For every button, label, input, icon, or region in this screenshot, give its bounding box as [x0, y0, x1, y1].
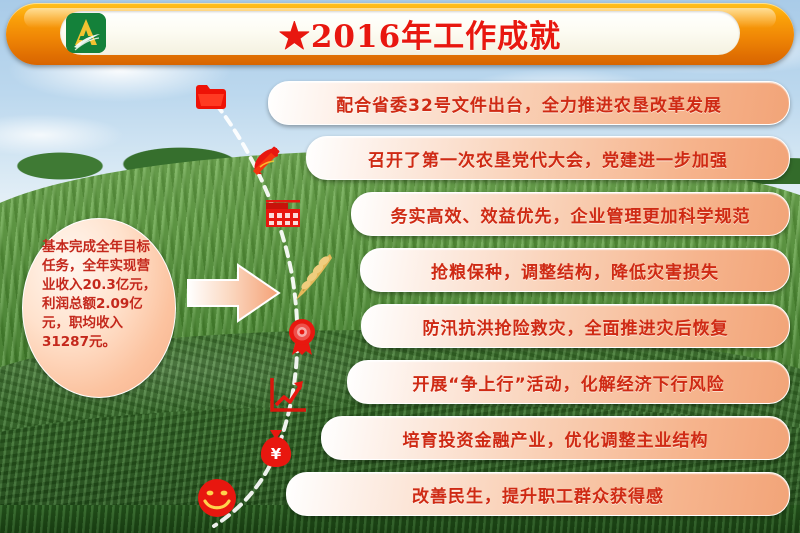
achievement-label: 配合省委32号文件出台，全力推进农垦改革发展	[336, 91, 722, 116]
rising-chart-icon	[268, 375, 308, 420]
achievement-pill-4[interactable]: 抢粮保种，调整结构，降低灾害损失	[360, 248, 790, 292]
page-title: ★2016年工作成就	[120, 11, 720, 55]
hammer-sickle-party-emblem-icon	[247, 143, 283, 184]
factory-building-icon	[265, 200, 301, 233]
achievement-label: 培育投资金融产业，优化调整主业结构	[403, 426, 709, 451]
svg-text:¥: ¥	[271, 445, 282, 463]
achievement-pill-5[interactable]: 防汛抗洪抢险救灾，全面推进灾后恢复	[361, 304, 790, 348]
achievement-pill-3[interactable]: 务实高效、效益优先，企业管理更加科学规范	[351, 192, 790, 236]
achievement-pill-7[interactable]: 培育投资金融产业，优化调整主业结构	[321, 416, 790, 460]
smiley-face-icon	[196, 477, 238, 524]
award-rosette-icon	[285, 318, 319, 361]
achievement-label: 改善民生，提升职工群众获得感	[412, 482, 664, 507]
achievement-label: 抢粮保种，调整结构，降低灾害损失	[431, 258, 719, 283]
slide-canvas: ★2016年工作成就 基本完成全年目标任务，全年实现营业收入20.3亿元，利润总…	[0, 0, 800, 533]
summary-text: 基本完成全年目标任务，全年实现营业收入20.3亿元，利润总额2.09亿元，职均收…	[42, 238, 160, 378]
achievement-label: 务实高效、效益优先，企业管理更加科学规范	[391, 202, 751, 227]
wheat-stalk-icon	[290, 250, 336, 307]
red-folder-icon	[194, 82, 228, 117]
achievement-pill-6[interactable]: 开展“争上行”活动，化解经济下行风险	[347, 360, 790, 404]
achievement-label: 开展“争上行”活动，化解经济下行风险	[412, 370, 724, 395]
achievement-pill-2[interactable]: 召开了第一次农垦党代大会，党建进一步加强	[306, 136, 790, 180]
achievement-label: 防汛抗洪抢险救灾，全面推进灾后恢复	[423, 314, 729, 339]
agriculture-logo-icon	[66, 13, 106, 53]
money-bag-icon: ¥	[259, 428, 293, 473]
achievement-pill-1[interactable]: 配合省委32号文件出台，全力推进农垦改革发展	[268, 81, 790, 125]
achievement-pill-8[interactable]: 改善民生，提升职工群众获得感	[286, 472, 790, 516]
achievement-label: 召开了第一次农垦党代大会，党建进一步加强	[368, 146, 728, 171]
